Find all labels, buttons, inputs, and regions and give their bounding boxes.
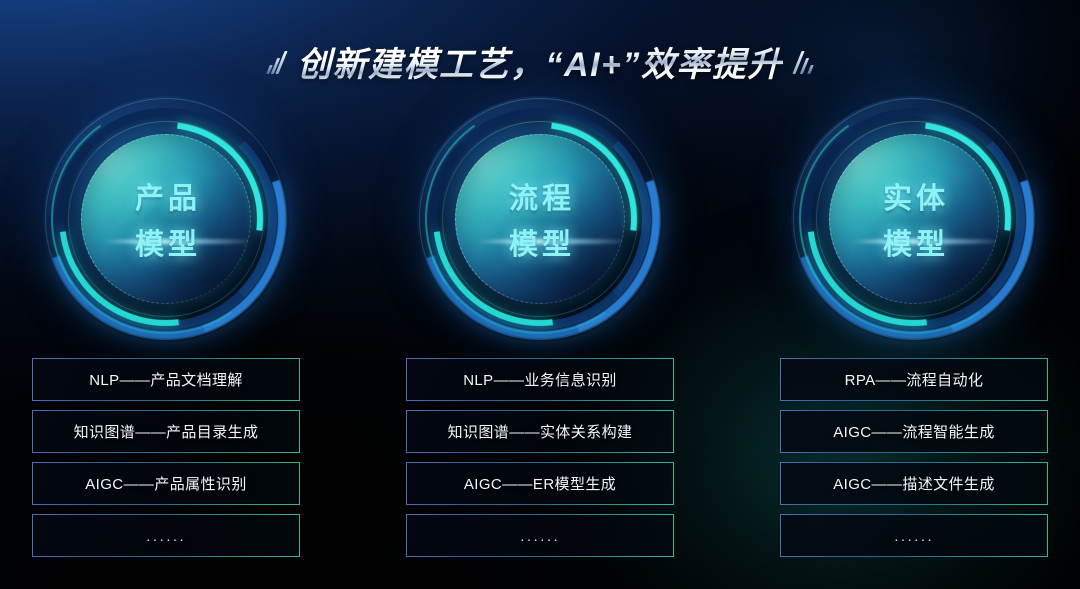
item-list-entity-model: RPA——流程自动化 AIGC——流程智能生成 AIGC——描述文件生成 ···… bbox=[780, 358, 1048, 557]
slide-title-row: 创新建模工艺，“AI+”效率提升 bbox=[0, 33, 1080, 89]
list-item[interactable]: AIGC——产品属性识别 bbox=[32, 462, 300, 505]
item-list-process-model: NLP——业务信息识别 知识图谱——实体关系构建 AIGC——ER模型生成 ··… bbox=[406, 358, 674, 557]
list-item[interactable]: AIGC——ER模型生成 bbox=[406, 462, 674, 505]
column-entity-model: 实体 模型 RPA——流程自动化 AIGC——流程智能生成 AIGC——描述文件… bbox=[780, 96, 1048, 589]
list-item-label: AIGC——流程智能生成 bbox=[833, 421, 994, 442]
list-item-label: AIGC——描述文件生成 bbox=[833, 473, 994, 494]
list-item[interactable]: NLP——产品文档理解 bbox=[32, 358, 300, 401]
list-item[interactable]: 知识图谱——产品目录生成 bbox=[32, 410, 300, 453]
title-decoration-right-icon bbox=[797, 48, 812, 74]
circle-badge-entity-model[interactable]: 实体 模型 bbox=[791, 96, 1037, 342]
list-item-label: NLP——产品文档理解 bbox=[89, 369, 243, 390]
model-columns: 产品 模型 NLP——产品文档理解 知识图谱——产品目录生成 AIGC——产品属… bbox=[0, 96, 1080, 589]
list-item-label: AIGC——ER模型生成 bbox=[464, 473, 616, 494]
list-item-label: ······ bbox=[520, 531, 560, 547]
list-item-label: 知识图谱——实体关系构建 bbox=[448, 421, 633, 442]
list-item[interactable]: AIGC——描述文件生成 bbox=[780, 462, 1048, 505]
item-list-product-model: NLP——产品文档理解 知识图谱——产品目录生成 AIGC——产品属性识别 ··… bbox=[32, 358, 300, 557]
list-item-ellipsis[interactable]: ······ bbox=[780, 514, 1048, 557]
list-item-label: NLP——业务信息识别 bbox=[463, 369, 617, 390]
title-decoration-left-icon bbox=[268, 48, 283, 74]
list-item-label: ······ bbox=[894, 531, 934, 547]
circle-badge-product-model[interactable]: 产品 模型 bbox=[43, 96, 289, 342]
list-item-label: AIGC——产品属性识别 bbox=[85, 473, 246, 494]
arc-cyan-top-right bbox=[778, 83, 1050, 355]
list-item[interactable]: AIGC——流程智能生成 bbox=[780, 410, 1048, 453]
list-item-label: 知识图谱——产品目录生成 bbox=[74, 421, 259, 442]
column-product-model: 产品 模型 NLP——产品文档理解 知识图谱——产品目录生成 AIGC——产品属… bbox=[32, 96, 300, 589]
list-item[interactable]: RPA——流程自动化 bbox=[780, 358, 1048, 401]
circle-badge-process-model[interactable]: 流程 模型 bbox=[417, 96, 663, 342]
list-item[interactable]: NLP——业务信息识别 bbox=[406, 358, 674, 401]
list-item[interactable]: 知识图谱——实体关系构建 bbox=[406, 410, 674, 453]
arc-cyan-top-right bbox=[30, 83, 302, 355]
list-item-label: ······ bbox=[146, 531, 186, 547]
list-item-ellipsis[interactable]: ······ bbox=[32, 514, 300, 557]
page-title: 创新建模工艺，“AI+”效率提升 bbox=[297, 37, 783, 86]
column-process-model: 流程 模型 NLP——业务信息识别 知识图谱——实体关系构建 AIGC——ER模… bbox=[406, 96, 674, 589]
list-item-label: RPA——流程自动化 bbox=[845, 369, 984, 390]
list-item-ellipsis[interactable]: ······ bbox=[406, 514, 674, 557]
arc-cyan-top-right bbox=[404, 83, 676, 355]
